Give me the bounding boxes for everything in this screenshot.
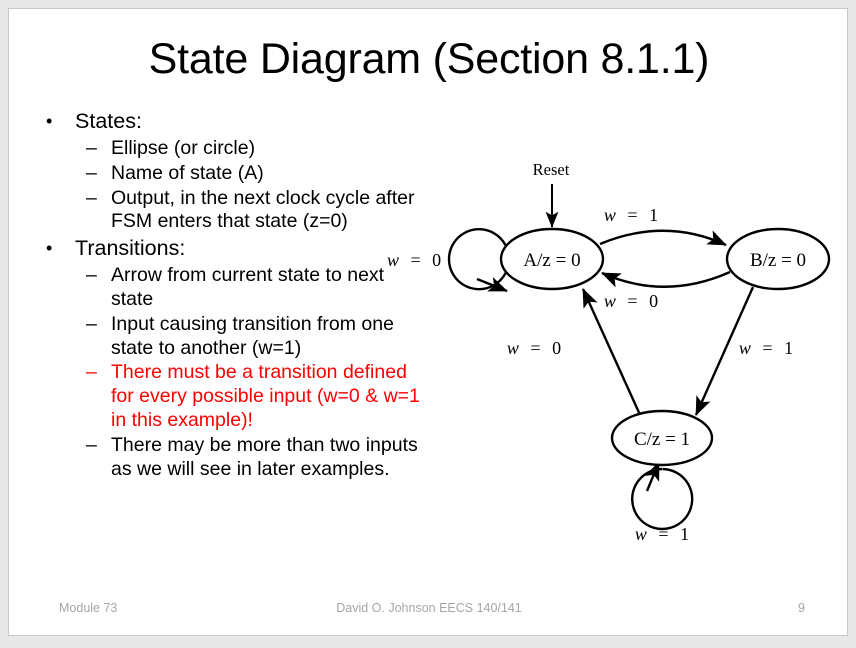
dash-marker: –: [86, 361, 97, 385]
dash-marker: –: [86, 264, 97, 288]
edge-var: w: [507, 338, 519, 358]
dash-marker: –: [86, 434, 97, 458]
state-diagram: Reset w = 0 A/z = 0 B/z = 0 w = 1: [369, 139, 848, 569]
slide-footer: Module 73 David O. Johnson EECS 140/141 …: [9, 601, 848, 617]
edge-eq: =: [762, 338, 772, 358]
transition-a-to-b: [600, 231, 726, 245]
transition-c-to-c-arrowhead: [647, 462, 659, 491]
transition-b-to-a: [602, 272, 730, 287]
dash-marker: –: [86, 187, 97, 211]
edge-var: w: [604, 291, 616, 311]
bullet-text: Ellipse (or circle): [111, 137, 255, 159]
bullet-text: Name of state (A): [111, 162, 264, 184]
edge-eq: =: [411, 250, 421, 270]
edge-eq: =: [627, 291, 637, 311]
edge-value: 0: [552, 338, 561, 358]
page-title: State Diagram (Section 8.1.1): [9, 35, 848, 84]
edge-value: 0: [432, 250, 441, 270]
edge-var: w: [604, 205, 616, 225]
bullet-text: Arrow from current state to next state: [111, 264, 384, 310]
bullet-text: Input causing transition from one state …: [111, 313, 394, 359]
bullet-text: Transitions:: [75, 236, 185, 260]
transition-label-a-to-b: w = 1: [604, 205, 658, 225]
bullet-item-states: • States:: [31, 108, 431, 135]
slide-canvas: State Diagram (Section 8.1.1) • States: …: [8, 8, 848, 636]
dash-marker: –: [86, 137, 97, 161]
transition-label-b-to-a: w = 0: [604, 291, 658, 311]
edge-var: w: [635, 524, 647, 544]
edge-value: 1: [784, 338, 793, 358]
edge-value: 0: [649, 291, 658, 311]
transition-label-a-to-a: w = 0: [387, 250, 441, 270]
transition-label-c-to-a: w = 0: [507, 338, 561, 358]
state-label-a: A/z = 0: [523, 250, 580, 271]
dash-marker: –: [86, 313, 97, 337]
bullet-text: States:: [75, 109, 142, 133]
bullet-marker: •: [46, 235, 52, 262]
edge-value: 1: [649, 205, 658, 225]
footer-page-number: 9: [798, 601, 805, 615]
dash-marker: –: [86, 162, 97, 186]
edge-eq: =: [658, 524, 668, 544]
state-label-c: C/z = 1: [634, 429, 690, 450]
edge-var: w: [387, 250, 399, 270]
transition-c-to-c: [632, 469, 692, 529]
reset-label: Reset: [533, 160, 570, 179]
transition-label-b-to-c: w = 1: [739, 338, 793, 358]
bullet-marker: •: [46, 108, 52, 135]
footer-author: David O. Johnson EECS 140/141: [9, 601, 848, 615]
edge-value: 1: [680, 524, 689, 544]
edge-var: w: [739, 338, 751, 358]
edge-eq: =: [530, 338, 540, 358]
edge-eq: =: [627, 205, 637, 225]
state-label-b: B/z = 0: [750, 250, 806, 271]
transition-label-c-to-c: w = 1: [635, 524, 689, 544]
